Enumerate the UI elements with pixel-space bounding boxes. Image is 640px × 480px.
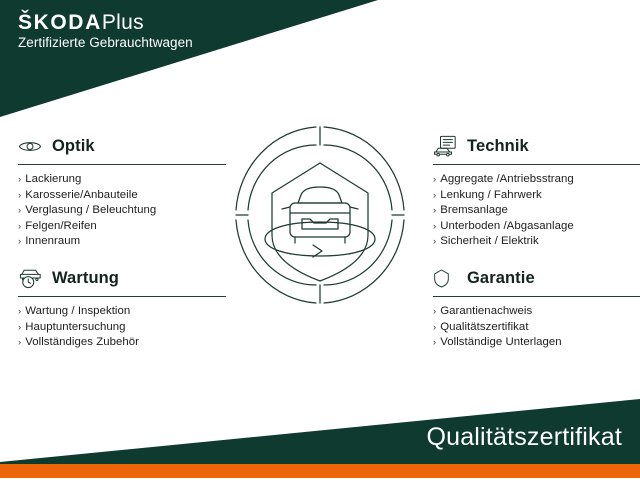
section-garantie-header: Garantie: [433, 265, 640, 291]
list-item: ›Qualitätszertifikat: [433, 320, 640, 336]
eye-icon: [18, 134, 46, 158]
list-item: ›Bremsanlage: [433, 203, 640, 219]
section-garantie-list: ›Garantienachweis ›Qualitätszertifikat ›…: [433, 304, 640, 351]
chevron-right-icon: ›: [433, 203, 436, 219]
chevron-right-icon: ›: [18, 219, 21, 235]
section-wartung-title: Wartung: [52, 269, 119, 288]
section-technik-list: ›Aggregate /Antriebsstrang ›Lenkung / Fa…: [433, 172, 640, 250]
chevron-right-icon: ›: [18, 203, 21, 219]
car-clock-icon: [18, 266, 46, 290]
brand-name: ŠKODAPlus: [18, 12, 193, 34]
chevron-right-icon: ›: [433, 188, 436, 204]
brand-name-main: ŠKODA: [18, 11, 102, 34]
list-item-label: Karosserie/Anbauteile: [25, 188, 138, 204]
emblem-car-mirror-right: [350, 207, 358, 209]
emblem-outer-arc-tl: [236, 127, 316, 210]
section-optik-list: ›Lackierung ›Karosserie/Anbauteile ›Verg…: [18, 172, 226, 250]
section-garantie: Garantie ›Garantienachweis ›Qualitätszer…: [433, 265, 640, 351]
emblem-car-roof: [298, 187, 342, 203]
list-item: ›Garantienachweis: [433, 304, 640, 320]
emblem-outer-arc-br: [324, 220, 404, 303]
list-item-label: Hauptuntersuchung: [25, 320, 125, 336]
emblem-outer-arc-bl: [236, 220, 316, 303]
section-technik-divider: [433, 164, 640, 165]
section-technik-header: Technik: [433, 133, 640, 159]
chevron-right-icon: ›: [18, 304, 21, 320]
section-garantie-title: Garantie: [467, 269, 535, 288]
chevron-right-icon: ›: [433, 335, 436, 351]
chevron-right-icon: ›: [433, 304, 436, 320]
section-technik-title: Technik: [467, 137, 529, 156]
list-item: ›Verglasung / Beleuchtung: [18, 203, 226, 219]
list-item: ›Aggregate /Antriebsstrang: [433, 172, 640, 188]
emblem-car-mirror-left: [282, 207, 290, 209]
list-item: ›Felgen/Reifen: [18, 219, 226, 235]
section-optik-title: Optik: [52, 137, 95, 156]
chevron-right-icon: ›: [433, 172, 436, 188]
list-item-label: Qualitätszertifikat: [440, 320, 528, 336]
list-item: ›Hauptuntersuchung: [18, 320, 226, 336]
list-item-label: Felgen/Reifen: [25, 219, 97, 235]
brand-logo: ŠKODAPlus Zertifizierte Gebrauchtwagen: [18, 12, 193, 50]
list-item-label: Garantienachweis: [440, 304, 532, 320]
brand-name-suffix: Plus: [102, 11, 144, 34]
chevron-right-icon: ›: [18, 335, 21, 351]
emblem-inner-arc-tl: [248, 145, 316, 210]
list-item-label: Wartung / Inspektion: [25, 304, 130, 320]
emblem-outer-arc-tr: [324, 127, 404, 210]
chevron-right-icon: ›: [433, 234, 436, 250]
section-wartung: Wartung ›Wartung / Inspektion ›Hauptunte…: [18, 265, 226, 351]
list-item-label: Verglasung / Beleuchtung: [25, 203, 156, 219]
list-item-label: Aggregate /Antriebsstrang: [440, 172, 574, 188]
list-item-label: Vollständige Unterlagen: [440, 335, 561, 351]
list-item: ›Sicherheit / Elektrik: [433, 234, 640, 250]
list-item: ›Unterboden /Abgasanlage: [433, 219, 640, 235]
brand-tagline: Zertifizierte Gebrauchtwagen: [18, 36, 193, 50]
emblem-orbit-arrow: [313, 245, 322, 257]
list-item-label: Vollständiges Zubehör: [25, 335, 139, 351]
list-item-label: Unterboden /Abgasanlage: [440, 219, 574, 235]
section-optik-header: Optik: [18, 133, 226, 159]
chevron-right-icon: ›: [18, 234, 21, 250]
list-item: ›Vollständiges Zubehör: [18, 335, 226, 351]
chevron-right-icon: ›: [18, 320, 21, 336]
list-item-label: Bremsanlage: [440, 203, 508, 219]
section-wartung-header: Wartung: [18, 265, 226, 291]
section-optik: Optik ›Lackierung ›Karosserie/Anbauteile…: [18, 133, 226, 250]
list-item: ›Karosserie/Anbauteile: [18, 188, 226, 204]
section-optik-divider: [18, 164, 226, 165]
chevron-right-icon: ›: [433, 320, 436, 336]
banner-title: Qualitätszertifikat: [426, 423, 622, 452]
emblem-inner-arc-tr: [324, 145, 392, 210]
section-technik: Technik ›Aggregate /Antriebsstrang ›Lenk…: [433, 133, 640, 250]
list-item-label: Lenkung / Fahrwerk: [440, 188, 542, 204]
section-wartung-divider: [18, 296, 226, 297]
list-item: ›Vollständige Unterlagen: [433, 335, 640, 351]
footer-orange-bar: [0, 464, 640, 478]
list-item: ›Lackierung: [18, 172, 226, 188]
list-item: ›Innenraum: [18, 234, 226, 250]
chevron-right-icon: ›: [18, 172, 21, 188]
section-wartung-list: ›Wartung / Inspektion ›Hauptuntersuchung…: [18, 304, 226, 351]
shield-icon: [433, 266, 461, 290]
emblem-car-grille: [302, 219, 338, 229]
list-item-label: Lackierung: [25, 172, 81, 188]
list-item: ›Wartung / Inspektion: [18, 304, 226, 320]
chevron-right-icon: ›: [18, 188, 21, 204]
certificate-page: ŠKODAPlus Zertifizierte Gebrauchtwagen: [0, 0, 640, 480]
list-item: ›Lenkung / Fahrwerk: [433, 188, 640, 204]
shield-car-quality-emblem: [232, 123, 408, 307]
car-checklist-icon: [433, 134, 461, 158]
emblem-car-body: [290, 203, 350, 237]
chevron-right-icon: ›: [433, 219, 436, 235]
list-item-label: Innenraum: [25, 234, 80, 250]
list-item-label: Sicherheit / Elektrik: [440, 234, 539, 250]
section-garantie-divider: [433, 296, 640, 297]
emblem-orbit-ellipse: [265, 222, 375, 256]
